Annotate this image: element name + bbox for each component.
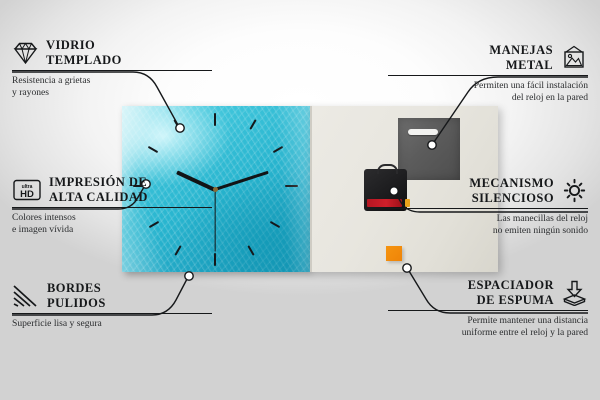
feature-header: VIDRIO TEMPLADO (12, 38, 212, 67)
feature-divider (12, 207, 212, 208)
feature-header: BORDES PULIDOS (12, 281, 212, 310)
clock-tick (273, 146, 284, 153)
feature-divider (388, 310, 588, 311)
feature-title: VIDRIO TEMPLADO (46, 38, 122, 67)
feature-bordes-pulidos: BORDES PULIDOS Superficie lisa y segura (12, 281, 212, 330)
feature-desc-line2: no emiten ningún sonido (388, 225, 588, 237)
feature-title: ESPACIADOR DE ESPUMA (468, 278, 554, 307)
diamond-icon (12, 41, 39, 65)
feature-description: Permite mantener una distancia uniforme … (388, 315, 588, 339)
feature-divider (12, 313, 212, 314)
feature-divider (12, 70, 212, 71)
feature-header: MECANISMO SILENCIOSO (388, 176, 588, 205)
clock-second-hand (214, 190, 215, 252)
hanger-plate (398, 118, 460, 180)
feature-desc-line2: uniforme entre el reloj y la pared (388, 327, 588, 339)
feature-mecanismo-silencioso: MECANISMO SILENCIOSO Las manecillas del … (388, 176, 588, 237)
press-down-arrow-icon (561, 280, 588, 306)
hanger-slot (408, 129, 438, 135)
feature-title-line2: TEMPLADO (46, 53, 122, 68)
feature-description: Colores intensos e imagen vívida (12, 212, 212, 236)
feature-header: MANEJAS METAL (388, 43, 588, 72)
feature-title: MANEJAS METAL (489, 43, 553, 72)
diagonal-lines-icon (12, 284, 40, 308)
infographic-stage: VIDRIO TEMPLADO Resistencia a grietas y … (0, 0, 600, 400)
feature-title-line1: MANEJAS (489, 43, 553, 58)
feature-desc-line2: del reloj en la pared (388, 92, 588, 104)
clock-tick (173, 119, 180, 130)
gear-icon (561, 178, 588, 203)
feature-vidrio-templado: VIDRIO TEMPLADO Resistencia a grietas y … (12, 38, 212, 99)
feature-header: ESPACIADOR DE ESPUMA (388, 278, 588, 307)
clock-tick (214, 113, 216, 126)
feature-title-line2: ALTA CALIDAD (49, 190, 148, 205)
clock-minute-hand (214, 171, 268, 192)
feature-title: MECANISMO SILENCIOSO (469, 176, 554, 205)
feature-title-line2: PULIDOS (47, 296, 106, 311)
feature-divider (388, 208, 588, 209)
clock-tick (285, 185, 298, 187)
feature-description: Resistencia a grietas y rayones (12, 75, 212, 99)
foam-spacer (386, 246, 402, 261)
clock-tick (214, 253, 216, 266)
movement-hanging-loop (377, 164, 398, 174)
clock-tick (249, 119, 256, 130)
feature-title-line1: ESPACIADOR (468, 278, 554, 293)
feature-description: Permiten una fácil instalación del reloj… (388, 80, 588, 104)
feature-title-line1: BORDES (47, 281, 106, 296)
feature-title-line2: DE ESPUMA (468, 293, 554, 308)
clock-tick (247, 245, 254, 256)
feature-desc-line2: y rayones (12, 87, 212, 99)
feature-desc-line1: Colores intensos (12, 212, 212, 224)
feature-impresion-alta-calidad: ultra HD IMPRESIÓN DE ALTA CALIDAD Color… (12, 175, 212, 236)
feature-title-line2: METAL (489, 58, 553, 73)
feature-title-line2: SILENCIOSO (469, 191, 554, 206)
feature-title: IMPRESIÓN DE ALTA CALIDAD (49, 175, 148, 204)
feature-title-line1: IMPRESIÓN DE (49, 175, 148, 190)
feature-title: BORDES PULIDOS (47, 281, 106, 310)
ultra-hd-main-text: HD (20, 189, 34, 200)
feature-description: Superficie lisa y segura (12, 318, 212, 330)
clock-tick (174, 245, 181, 256)
feature-desc-line1: Resistencia a grietas (12, 75, 212, 87)
feature-desc-line1: Permite mantener una distancia (388, 315, 588, 327)
clock-tick (148, 146, 159, 153)
feature-desc-line1: Permiten una fácil instalación (388, 80, 588, 92)
clock-tick (270, 221, 281, 228)
feature-divider (388, 75, 588, 76)
feature-title-line1: VIDRIO (46, 38, 122, 53)
feature-header: ultra HD IMPRESIÓN DE ALTA CALIDAD (12, 175, 212, 204)
clock-center-hub (213, 187, 218, 192)
feature-desc-line1: Superficie lisa y segura (12, 318, 212, 330)
feature-manejas-metal: MANEJAS METAL Permiten una fácil instala… (388, 43, 588, 104)
feature-desc-line2: e imagen vívida (12, 224, 212, 236)
ultra-hd-badge-icon: ultra HD (12, 178, 42, 202)
feature-title-line1: MECANISMO (469, 176, 554, 191)
picture-frame-hanger-icon (560, 45, 588, 70)
feature-desc-line1: Las manecillas del reloj (388, 213, 588, 225)
feature-description: Las manecillas del reloj no emiten ningú… (388, 213, 588, 237)
feature-espaciador-espuma: ESPACIADOR DE ESPUMA Permite mantener un… (388, 278, 588, 339)
